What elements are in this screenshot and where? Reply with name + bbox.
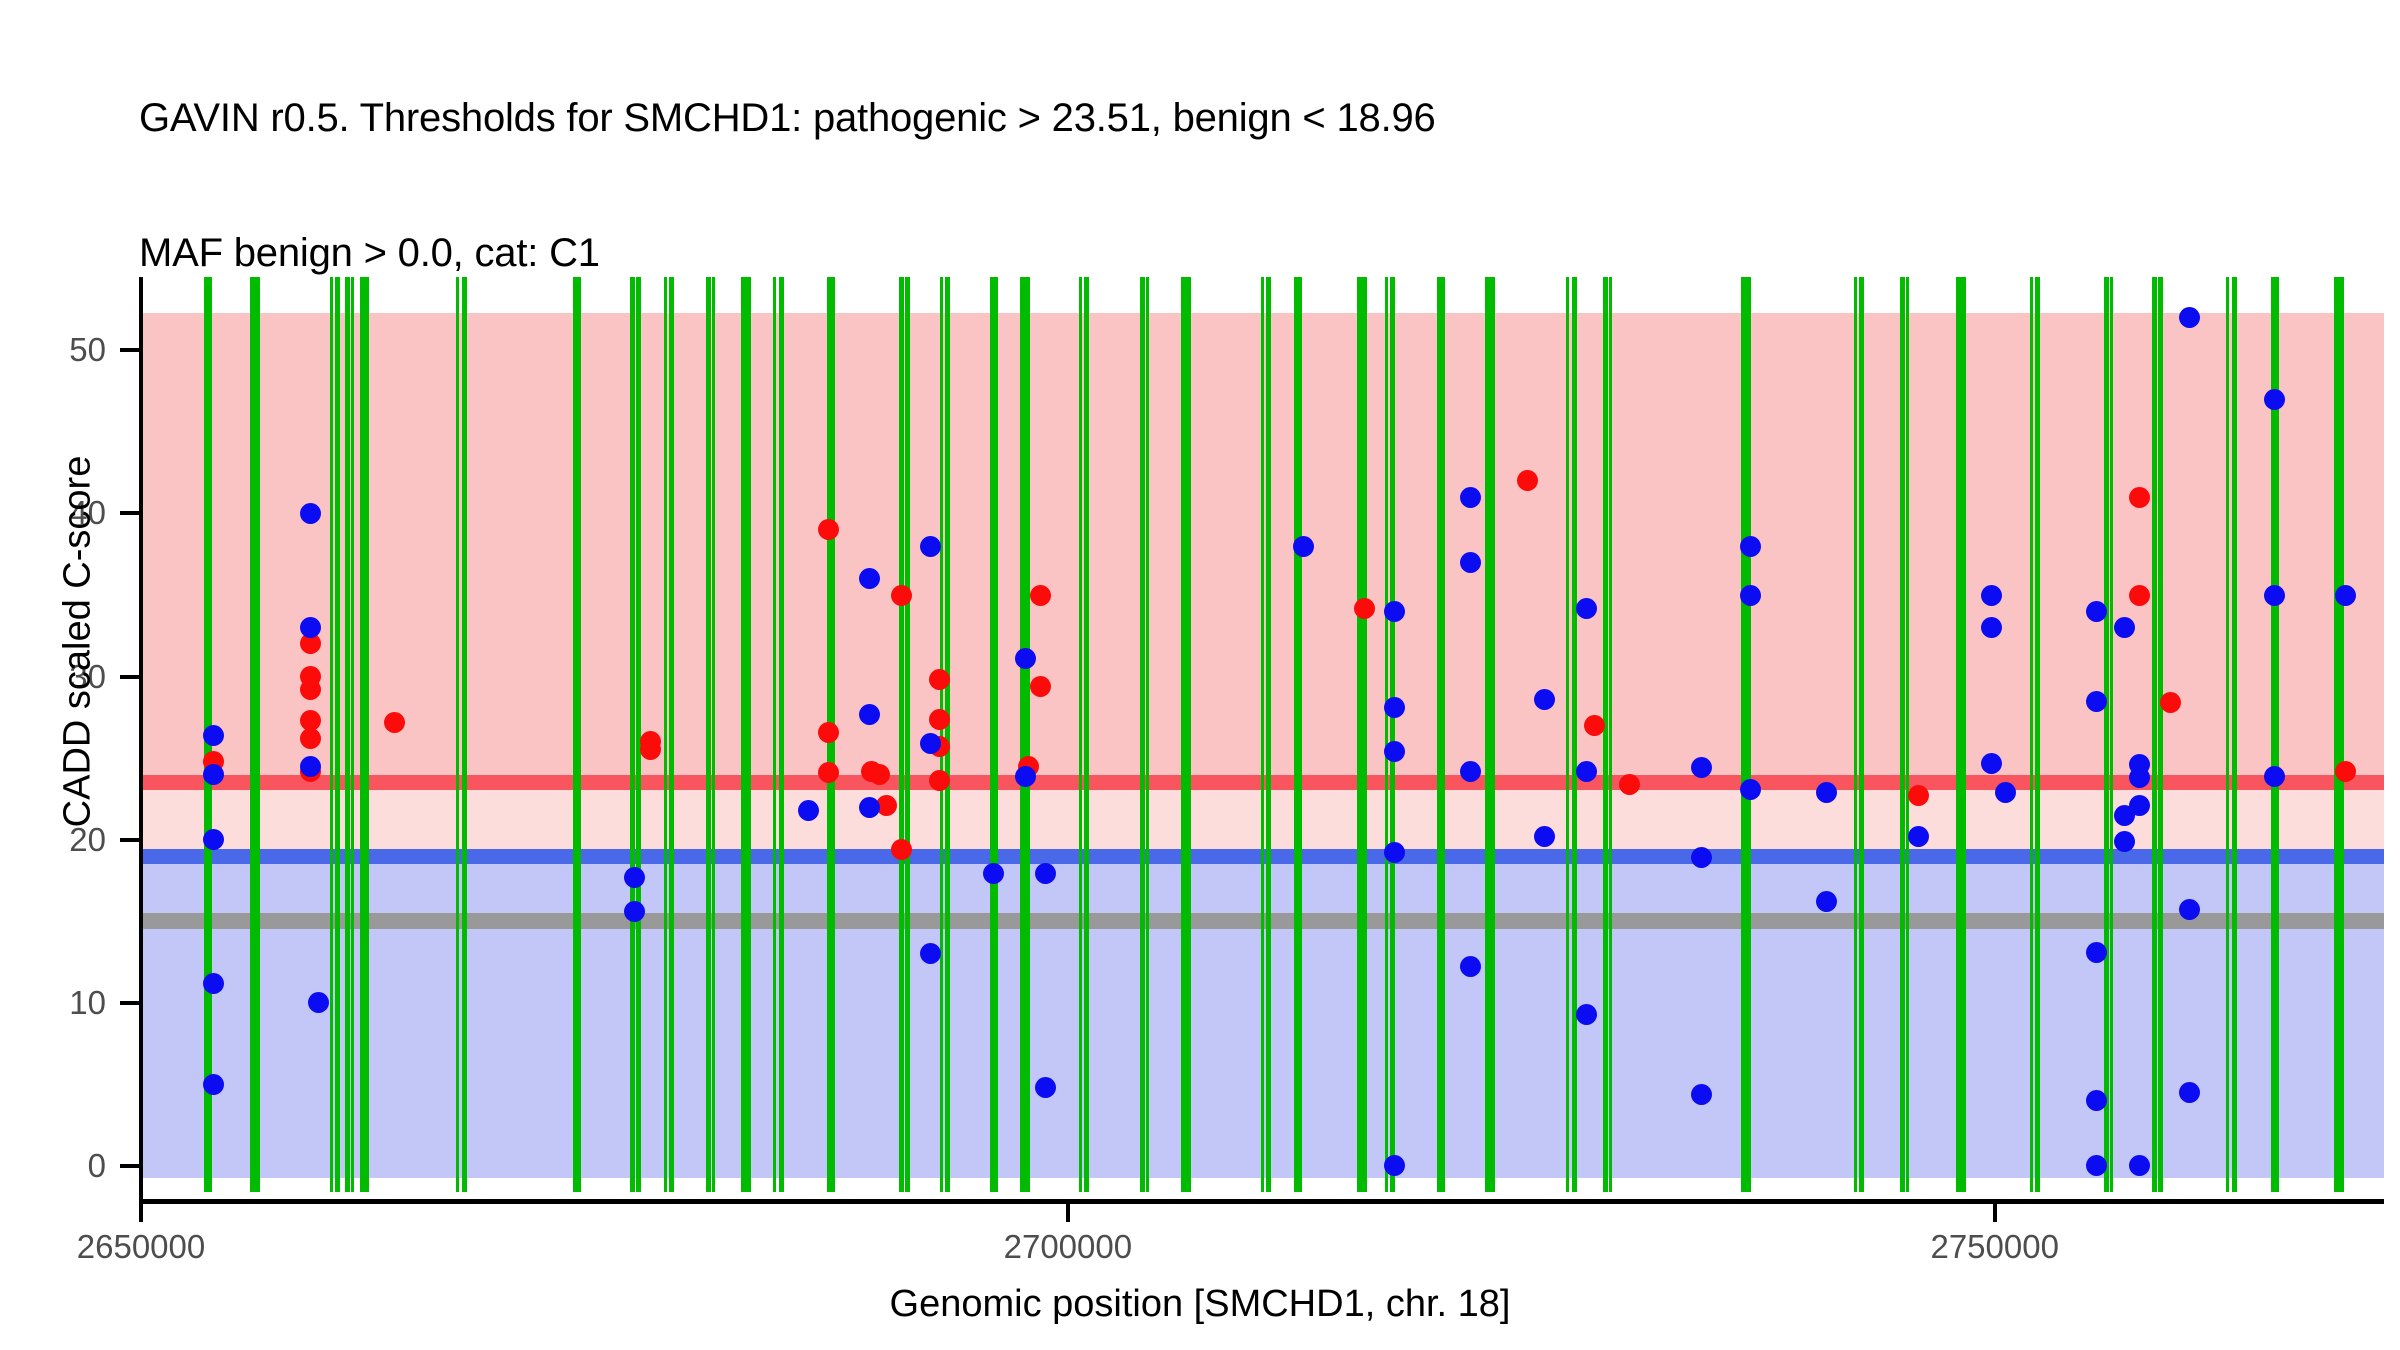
gnomad-variant-point: [1576, 598, 1597, 619]
refseq-exon-line: [2110, 277, 2113, 1192]
x-axis-tick: [1993, 1204, 1997, 1222]
refseq-exon-line: [1566, 277, 1569, 1192]
pathogenic-variant-point: [1619, 774, 1640, 795]
y-axis-tick-label: 10: [69, 984, 106, 1022]
gnomad-variant-point: [624, 901, 645, 922]
pathogenic-variant-point: [891, 585, 912, 606]
gnomad-variant-point: [1293, 536, 1314, 557]
y-axis-tick: [120, 675, 139, 679]
refseq-exon-line: [255, 277, 260, 1192]
gnomad-variant-point: [1981, 753, 2002, 774]
refseq-exon-line: [1603, 277, 1608, 1192]
refseq-exon-line: [351, 277, 354, 1192]
pathogenic-variant-point: [1030, 585, 1051, 606]
y-axis-tick: [120, 1001, 139, 1005]
gnomad-variant-point: [2179, 307, 2200, 328]
refseq-exon-line: [1025, 277, 1030, 1192]
pathogenic-variant-point: [818, 722, 839, 743]
gnomad-variant-point: [1816, 782, 1837, 803]
refseq-exon-line: [1609, 277, 1612, 1192]
gnomad-variant-point: [1576, 761, 1597, 782]
gnomad-variant-point: [1534, 689, 1555, 710]
refseq-exon-line: [345, 277, 350, 1192]
x-axis-tick: [139, 1204, 143, 1222]
refseq-exon-line: [899, 277, 904, 1192]
gnomad-variant-point: [203, 725, 224, 746]
gnomad-variant-point: [203, 764, 224, 785]
refseq-exon-line: [1299, 277, 1302, 1192]
refseq-exon-line: [1294, 277, 1299, 1192]
refseq-exon-line: [1390, 277, 1395, 1192]
gnomad-variant-point: [859, 797, 880, 818]
refseq-exon-line: [2339, 277, 2344, 1192]
title-line-1: GAVIN r0.5. Thresholds for SMCHD1: patho…: [139, 96, 2239, 141]
gnomad-variant-point: [1981, 617, 2002, 638]
refseq-exon-line: [1956, 277, 1961, 1192]
gnomad-variant-point: [2264, 585, 2285, 606]
gnomad-variant-point: [1740, 536, 1761, 557]
gnomad-variant-point: [1384, 842, 1405, 863]
gnomad-variant-point: [203, 973, 224, 994]
refseq-exon-line: [990, 277, 995, 1192]
gnomad-variant-point: [2086, 691, 2107, 712]
refseq-exon-line: [664, 277, 667, 1192]
gnomad-variant-point: [1460, 956, 1481, 977]
refseq-exon-line: [2152, 277, 2157, 1192]
refseq-exon-line: [1181, 277, 1186, 1192]
y-axis-tick: [120, 348, 139, 352]
gnomad-variant-point: [2179, 1082, 2200, 1103]
gnomad-variant-point: [1981, 585, 2002, 606]
refseq-exon-line: [1362, 277, 1367, 1192]
gnomad-variant-point: [1908, 826, 1929, 847]
y-axis-tick: [120, 1164, 139, 1168]
gnomad-variant-point: [2086, 942, 2107, 963]
gavin-cadd-scatter-figure: GAVIN r0.5. Thresholds for SMCHD1: patho…: [0, 0, 2400, 1350]
pathogenic-variant-point: [1354, 598, 1375, 619]
x-axis-tick: [1066, 1204, 1070, 1222]
gnomad-variant-point: [1576, 1004, 1597, 1025]
pathogenic-variant-point: [2129, 487, 2150, 508]
gnomad-variant-point: [1816, 891, 1837, 912]
refseq-exon-line: [1442, 277, 1445, 1192]
refseq-exon-line: [940, 277, 943, 1192]
refseq-exon-line: [456, 277, 459, 1192]
gnomad-variant-point: [1384, 601, 1405, 622]
refseq-exon-line: [1961, 277, 1966, 1192]
pathogenic-variant-point: [929, 709, 950, 730]
x-axis-tick-label: 2700000: [1004, 1228, 1132, 1266]
refseq-exon-line: [1854, 277, 1857, 1192]
gnomad-variant-point: [2335, 585, 2356, 606]
gnomad-variant-point: [300, 756, 321, 777]
refseq-exon-line: [1572, 277, 1577, 1192]
refseq-exon-line: [578, 277, 581, 1192]
refseq-exon-line: [2035, 277, 2040, 1192]
refseq-exon-line: [330, 277, 333, 1192]
gnomad-variant-point: [1460, 487, 1481, 508]
y-axis-label: CADD scaled C-score: [57, 342, 100, 942]
refseq-exon-line: [1437, 277, 1442, 1192]
gnomad-variant-point: [1460, 552, 1481, 573]
refseq-exon-line: [1084, 277, 1089, 1192]
refseq-exon-line: [630, 277, 635, 1192]
refseq-exon-line: [746, 277, 751, 1192]
refseq-exon-line: [1859, 277, 1864, 1192]
gnomad-variant-point: [859, 704, 880, 725]
gnomad-variant-point: [624, 867, 645, 888]
gnomad-variant-point: [1384, 741, 1405, 762]
gnomad-variant-point: [1384, 1155, 1405, 1176]
pathogenic-variant-point: [1584, 715, 1605, 736]
refseq-exon-line: [741, 277, 746, 1192]
refseq-exon-line: [779, 277, 784, 1192]
gnomad-variant-point: [2129, 767, 2150, 788]
refseq-exon-line: [1906, 277, 1909, 1192]
refseq-exon-line: [462, 277, 467, 1192]
refseq-exon-line: [669, 277, 674, 1192]
refseq-exon-line: [2271, 277, 2276, 1192]
gnomad-variant-point: [2086, 601, 2107, 622]
gnomad-variant-point: [1015, 766, 1036, 787]
refseq-exon-line: [1357, 277, 1362, 1192]
gnomad-variant-point: [2114, 617, 2135, 638]
gnomad-variant-point: [920, 536, 941, 557]
refseq-exon-line: [1079, 277, 1082, 1192]
refseq-exon-line: [1140, 277, 1145, 1192]
refseq-exon-line: [364, 277, 369, 1192]
gnomad-variant-point: [1534, 826, 1555, 847]
refseq-exon-line: [1020, 277, 1025, 1192]
gnomad-variant-point: [300, 503, 321, 524]
gnomad-variant-point: [1740, 585, 1761, 606]
refseq-exon-line: [1266, 277, 1271, 1192]
x-axis-label: Genomic position [SMCHD1, chr. 18]: [0, 1283, 2400, 1326]
gnomad-variant-point: [2264, 389, 2285, 410]
refseq-exon-line: [2104, 277, 2109, 1192]
refseq-exon-line: [335, 277, 340, 1192]
gnomad-variant-point: [2264, 766, 2285, 787]
refseq-exon-line: [1186, 277, 1191, 1192]
title-line-2: MAF benign > 0.0, cat: C1: [139, 231, 2239, 276]
pathogenic-variant-point: [891, 839, 912, 860]
y-axis-line: [139, 277, 143, 1203]
refseq-exon-line: [1741, 277, 1746, 1192]
x-axis-line: [139, 1199, 2384, 1204]
pathogenic-variant-point: [2129, 585, 2150, 606]
refseq-exon-line: [2276, 277, 2279, 1192]
refseq-exon-line: [1746, 277, 1751, 1192]
refseq-exon-line: [995, 277, 998, 1192]
x-axis-tick-label: 2750000: [1930, 1228, 2058, 1266]
refseq-exon-line: [905, 277, 910, 1192]
refseq-exon-line: [1485, 277, 1490, 1192]
x-axis-tick-label: 2650000: [77, 1228, 205, 1266]
gnomad-variant-point: [203, 1074, 224, 1095]
gnomad-variant-point: [203, 829, 224, 850]
refseq-exon-line: [773, 277, 776, 1192]
refseq-exon-line: [1146, 277, 1149, 1192]
gnomad-variant-point: [1740, 779, 1761, 800]
gnomad-variant-point: [1384, 697, 1405, 718]
refseq-exon-line: [2334, 277, 2339, 1192]
plot-area: [141, 277, 2384, 1192]
pathogenic-variant-point: [869, 764, 890, 785]
y-axis-tick: [120, 511, 139, 515]
pathogenic-variant-point: [1030, 676, 1051, 697]
gnomad-variant-point: [798, 800, 819, 821]
gnomad-variant-point: [2114, 831, 2135, 852]
refseq-exon-line: [2158, 277, 2163, 1192]
refseq-exon-line: [2226, 277, 2229, 1192]
refseq-exon-line: [1261, 277, 1264, 1192]
refseq-exon-line: [573, 277, 578, 1192]
refseq-exon-line: [1385, 277, 1388, 1192]
gnomad-variant-point: [920, 733, 941, 754]
refseq-exon-line: [945, 277, 950, 1192]
gnomad-variant-point: [1691, 1084, 1712, 1105]
refseq-exon-line: [636, 277, 641, 1192]
gnomad-variant-point: [1015, 648, 1036, 669]
refseq-exon-line: [712, 277, 715, 1192]
refseq-exon-line: [2030, 277, 2033, 1192]
refseq-exon-line: [1490, 277, 1495, 1192]
gnomad-variant-point: [2129, 795, 2150, 816]
refseq-exon-line: [706, 277, 711, 1192]
y-axis-tick-label: 0: [88, 1147, 106, 1185]
refseq-exon-line: [2232, 277, 2237, 1192]
gnomad-variant-point: [1460, 761, 1481, 782]
refseq-exon-line: [1900, 277, 1905, 1192]
pathogenic-variant-point: [2335, 761, 2356, 782]
y-axis-tick: [120, 838, 139, 842]
